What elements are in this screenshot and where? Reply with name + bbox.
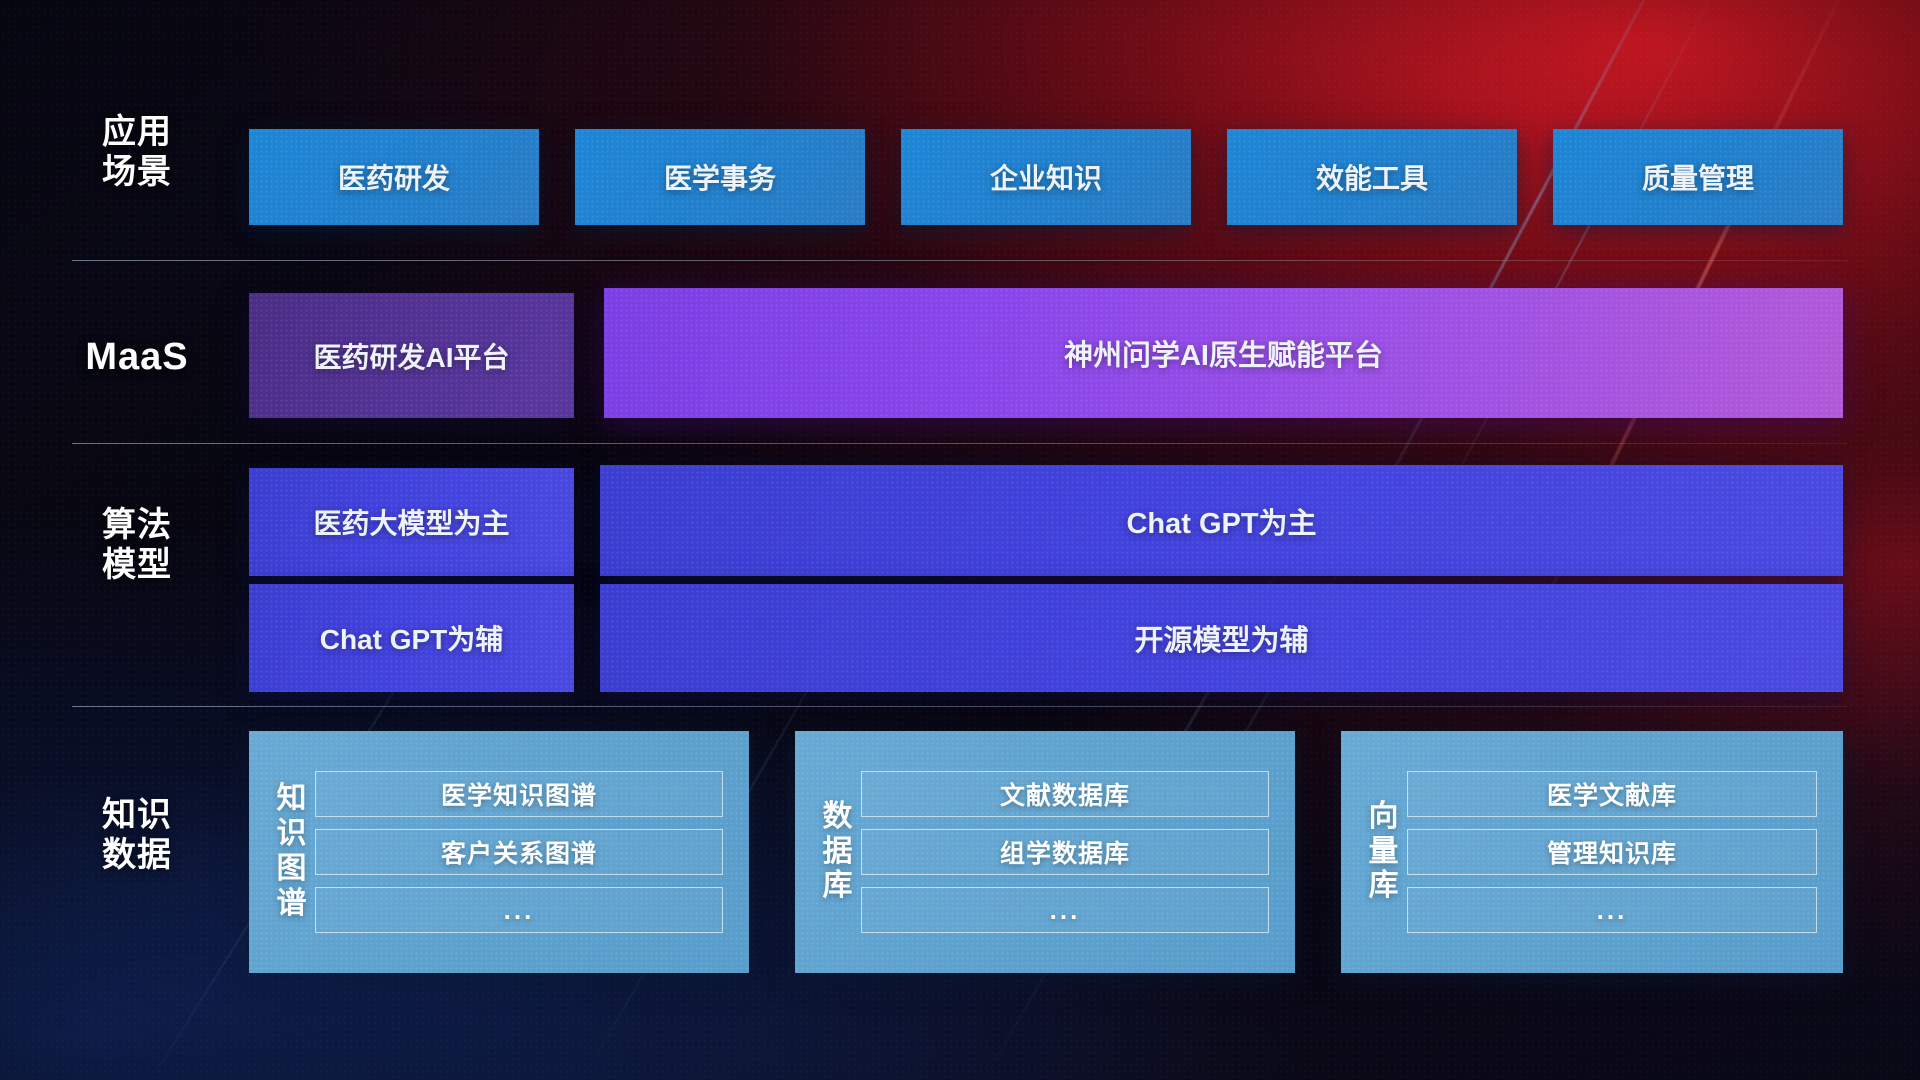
knowledge-item[interactable]: 客户关系图谱 xyxy=(315,829,723,875)
knowledge-item[interactable]: 组学数据库 xyxy=(861,829,1269,875)
app-scenario-label: 效能工具 xyxy=(1316,157,1428,197)
knowledge-group-knowledge-graph[interactable]: 知 识 图 谱 医学知识图谱 客户关系图谱 ... xyxy=(249,731,749,973)
knowledge-group-vector-store[interactable]: 向 量 库 医学文献库 管理知识库 ... xyxy=(1341,731,1843,973)
knowledge-group-vertical-label: 数 据 库 xyxy=(815,800,861,904)
algorithm-label: 开源模型为辅 xyxy=(1134,617,1308,659)
app-scenario-label: 医药研发 xyxy=(338,157,450,197)
maas-platform-right[interactable]: 神州问学AI原生赋能平台 xyxy=(604,288,1843,418)
app-scenario-label: 质量管理 xyxy=(1642,157,1754,197)
knowledge-group-items: 文献数据库 组学数据库 ... xyxy=(861,771,1269,933)
algorithm-label: Chat GPT为辅 xyxy=(320,618,504,658)
app-scenario-box-4[interactable]: 效能工具 xyxy=(1227,129,1517,225)
algorithm-box-left-secondary[interactable]: Chat GPT为辅 xyxy=(249,584,574,692)
slide-canvas: 应用 场景 医药研发 医学事务 企业知识 效能工具 质量管理 MaaS 医药研发… xyxy=(0,0,1920,1080)
knowledge-group-items: 医学文献库 管理知识库 ... xyxy=(1407,771,1817,933)
row-label-algorithm-models: 算法 模型 xyxy=(72,505,202,585)
knowledge-item[interactable]: 管理知识库 xyxy=(1407,829,1817,875)
row-divider xyxy=(72,260,1848,261)
app-scenario-box-2[interactable]: 医学事务 xyxy=(575,129,865,225)
algorithm-box-left-primary[interactable]: 医药大模型为主 xyxy=(249,468,574,576)
maas-platform-left-label: 医药研发AI平台 xyxy=(313,336,509,376)
app-scenario-box-1[interactable]: 医药研发 xyxy=(249,129,539,225)
knowledge-item-more[interactable]: ... xyxy=(1407,887,1817,933)
algorithm-box-right-primary[interactable]: Chat GPT为主 xyxy=(600,465,1843,576)
knowledge-item[interactable]: 文献数据库 xyxy=(861,771,1269,817)
app-scenario-box-5[interactable]: 质量管理 xyxy=(1553,129,1843,225)
row-label-knowledge-data: 知识 数据 xyxy=(72,795,202,875)
row-label-maas: MaaS xyxy=(72,335,202,380)
maas-platform-right-label: 神州问学AI原生赋能平台 xyxy=(1064,332,1383,374)
algorithm-label: Chat GPT为主 xyxy=(1126,500,1316,542)
knowledge-group-items: 医学知识图谱 客户关系图谱 ... xyxy=(315,771,723,933)
algorithm-label: 医药大模型为主 xyxy=(313,502,509,542)
knowledge-group-vertical-label: 向 量 库 xyxy=(1361,800,1407,904)
maas-platform-left[interactable]: 医药研发AI平台 xyxy=(249,293,574,418)
row-label-application-scenarios: 应用 场景 xyxy=(72,112,202,192)
knowledge-group-database[interactable]: 数 据 库 文献数据库 组学数据库 ... xyxy=(795,731,1295,973)
knowledge-item-more[interactable]: ... xyxy=(861,887,1269,933)
app-scenario-box-3[interactable]: 企业知识 xyxy=(901,129,1191,225)
knowledge-group-vertical-label: 知 识 图 谱 xyxy=(269,782,315,921)
knowledge-item[interactable]: 医学文献库 xyxy=(1407,771,1817,817)
algorithm-box-right-secondary[interactable]: 开源模型为辅 xyxy=(600,584,1843,692)
app-scenario-label: 医学事务 xyxy=(664,157,776,197)
knowledge-item[interactable]: 医学知识图谱 xyxy=(315,771,723,817)
knowledge-item-more[interactable]: ... xyxy=(315,887,723,933)
app-scenario-label: 企业知识 xyxy=(990,157,1102,197)
row-divider xyxy=(72,706,1848,707)
row-divider xyxy=(72,443,1848,444)
